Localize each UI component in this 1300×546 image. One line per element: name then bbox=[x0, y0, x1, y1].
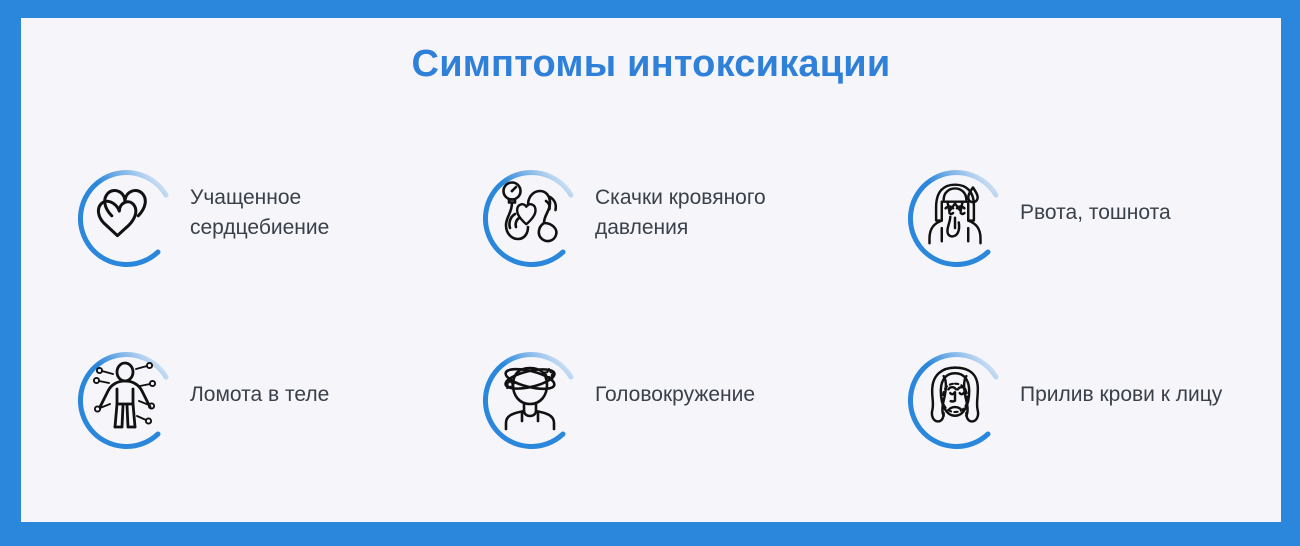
symptom-label: Головокружение bbox=[595, 380, 755, 410]
infographic-root: Симптомы интоксикации bbox=[0, 0, 1300, 546]
symptoms-grid: Учащенное сердцебиение bbox=[21, 122, 1281, 486]
symptom-item-facial-flushing: Прилив крови к лицу bbox=[900, 304, 1281, 486]
icon-badge bbox=[900, 159, 1008, 267]
icon-badge bbox=[70, 159, 178, 267]
symptom-label: Учащенное сердцебиение bbox=[190, 183, 440, 243]
symptom-label: Прилив крови к лицу bbox=[1020, 380, 1222, 410]
body-ache-figure-icon bbox=[88, 359, 162, 431]
symptom-label: Скачки кровяного давления bbox=[595, 183, 845, 243]
symptom-item-vomiting-nausea: Рвота, тошнота bbox=[900, 122, 1281, 304]
page-title: Симптомы интоксикации bbox=[21, 43, 1281, 86]
content-panel: Симптомы интоксикации bbox=[21, 18, 1281, 522]
dizzy-head-icon bbox=[493, 359, 567, 431]
symptom-item-dizziness: Головокружение bbox=[475, 304, 900, 486]
symptom-item-rapid-heartbeat: Учащенное сердцебиение bbox=[70, 122, 475, 304]
symptom-item-body-aches: Ломота в теле bbox=[70, 304, 475, 486]
symptom-label: Ломота в теле bbox=[190, 380, 329, 410]
flushed-face-icon bbox=[921, 359, 989, 431]
icon-badge bbox=[475, 341, 583, 449]
double-heart-icon bbox=[91, 177, 159, 249]
icon-badge bbox=[70, 341, 178, 449]
icon-badge bbox=[475, 159, 583, 267]
icon-badge bbox=[900, 341, 1008, 449]
blood-pressure-monitor-icon bbox=[493, 177, 567, 249]
symptom-label: Рвота, тошнота bbox=[1020, 198, 1171, 228]
nausea-person-icon bbox=[921, 177, 989, 249]
symptom-item-blood-pressure-spikes: Скачки кровяного давления bbox=[475, 122, 900, 304]
